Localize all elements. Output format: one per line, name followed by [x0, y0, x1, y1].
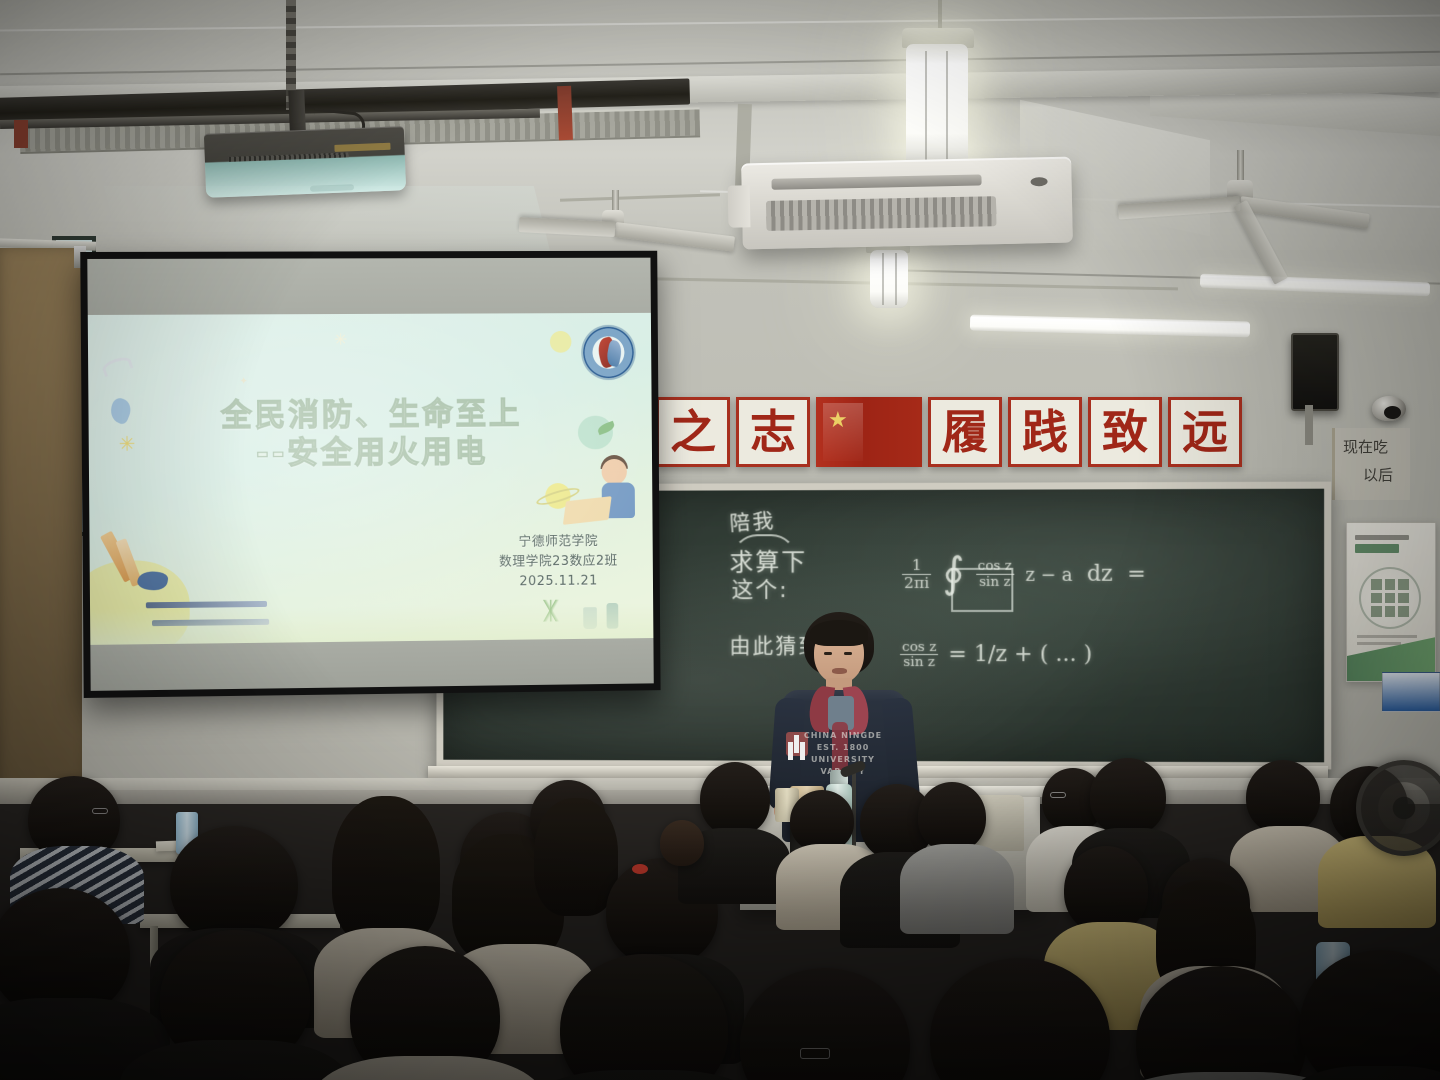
- ceiling-projector: [204, 126, 406, 198]
- hair-scrunchie: [632, 864, 648, 874]
- slide-title-line-2: --安全用火用电: [89, 433, 652, 475]
- tube-seam: [895, 253, 897, 304]
- poster-text-line: [1357, 642, 1401, 645]
- slide-title-line-1: 全民消防、生命至上: [88, 396, 651, 437]
- ac-grill: [766, 196, 997, 231]
- chalk-frac-den: 2πi: [902, 574, 931, 590]
- poster-icon: [1398, 606, 1409, 617]
- wall-speaker: [1291, 333, 1339, 411]
- presenter-eye: [844, 652, 852, 655]
- banner-tile-zhi1: 之: [656, 397, 730, 467]
- screen-surface: ✳ ✳ ✦: [87, 258, 653, 691]
- chalk-fraction: 1 2πi: [902, 557, 931, 591]
- fan-blade: [519, 217, 616, 237]
- window-curtain: [0, 248, 82, 804]
- student-head: [1246, 760, 1320, 834]
- confetti-ribbon-decoration: [101, 354, 134, 377]
- student-head: [790, 790, 854, 852]
- screen-letterbox-top: [87, 258, 651, 317]
- banner-char: 远: [1182, 409, 1228, 455]
- poster-subheading-bar: [1355, 544, 1399, 553]
- poster-heading-bar: [1355, 535, 1409, 540]
- poster-icon: [1385, 606, 1396, 617]
- tube-seam: [946, 51, 948, 160]
- chalk-formula-2-right: = 1/z + ( ... ): [948, 642, 1092, 667]
- presentation-slide: ✳ ✳ ✦: [88, 313, 654, 649]
- student-head: [740, 968, 910, 1080]
- poster-icon-grid: [1371, 579, 1409, 617]
- camera-lens: [1384, 406, 1401, 419]
- tube-seam: [925, 51, 927, 160]
- presenter-fringe: [810, 620, 868, 646]
- poster-text-line: [1357, 635, 1417, 638]
- screen-letterbox-bottom: [90, 638, 653, 691]
- student-torso: [1280, 1066, 1440, 1080]
- chalk-line-2: 这个:: [732, 572, 789, 604]
- chalk-denominator: z − a: [1025, 565, 1072, 586]
- note-line-2: 以后: [1363, 464, 1393, 485]
- banner-tile-lv: 履: [928, 397, 1002, 467]
- chinese-flag-plaque: [816, 397, 922, 467]
- university-emblem-icon: [583, 327, 634, 379]
- wall-motto-banner: 之 志 履 践 致 远: [640, 395, 1242, 469]
- presenter-mouth: [832, 668, 847, 674]
- banner-tile-yuan: 远: [1168, 397, 1242, 467]
- pull-down-projection-screen: ✳ ✳ ✦: [80, 251, 660, 698]
- chalk-equals: =: [1127, 562, 1146, 587]
- classroom-photo: 之 志 履 践 致 远 现在吃 以后: [0, 0, 1440, 1080]
- student-head: [1090, 758, 1166, 836]
- student-long-hair: [534, 798, 618, 916]
- banner-tile-zhi3: 致: [1088, 397, 1162, 467]
- yellow-circle-decoration: [550, 331, 572, 353]
- student-glasses: [92, 808, 108, 814]
- student-torso: [520, 1070, 770, 1080]
- chalk-frac-num: 1: [902, 557, 931, 574]
- projector-vent: [229, 152, 349, 162]
- ceiling-bracket: [14, 120, 28, 148]
- chalk-differential: dz: [1087, 562, 1113, 587]
- poster-icon: [1385, 593, 1396, 604]
- sparkle-decoration: ✦: [239, 376, 247, 387]
- poster-icon: [1371, 593, 1382, 604]
- ceiling-bracket: [557, 86, 573, 140]
- poster-icon: [1385, 579, 1396, 590]
- slide-date: 2025.11.21: [499, 572, 618, 593]
- tube-seam: [882, 253, 884, 304]
- banner-char: 践: [1022, 409, 1068, 455]
- curtain-shadow: [0, 248, 82, 804]
- banner-tile-jian: 践: [1008, 397, 1082, 467]
- secondary-poster: [1382, 672, 1440, 712]
- student-torso: [900, 844, 1014, 934]
- poster-icon: [1371, 606, 1382, 617]
- student-torso: [312, 1056, 544, 1080]
- ac-fin: [728, 185, 751, 227]
- fan-rod: [1237, 150, 1244, 184]
- green-safety-poster: [1346, 522, 1436, 682]
- projector-label: [334, 143, 390, 152]
- ceiling-fan: [1150, 150, 1330, 230]
- student-head: [660, 820, 704, 866]
- note-line-1: 现在吃: [1343, 436, 1388, 457]
- cassette-air-conditioner: [741, 157, 1073, 250]
- slide-org: 宁德师范学院: [499, 532, 618, 553]
- poster-icon: [1371, 579, 1382, 590]
- projector-body: [204, 126, 406, 198]
- slide-class: 数理学院23数应2班: [499, 552, 618, 573]
- chalk-formula-1: 1 2πi ∮ cos z sin z z − a dz =: [899, 548, 1146, 597]
- speaker-bracket: [1305, 405, 1313, 445]
- fluorescent-tube-light: [870, 250, 908, 308]
- presenter-eye: [824, 652, 832, 655]
- chalk-note-top: 陪我: [729, 505, 777, 538]
- star-decoration: ✳: [334, 330, 347, 350]
- projector-lens: [310, 184, 354, 192]
- fan-rod: [612, 190, 619, 212]
- poster-icon: [1398, 593, 1409, 604]
- banner-char: 志: [750, 409, 796, 455]
- student-head: [918, 782, 986, 852]
- ac-sensor: [1030, 177, 1047, 186]
- chalk-rectangle: [951, 568, 1013, 612]
- student-glasses: [800, 1048, 830, 1059]
- student-glasses: [1050, 792, 1066, 798]
- banner-tile-zhi2: 志: [736, 397, 810, 467]
- poster-icon: [1398, 579, 1409, 590]
- banner-char: 之: [670, 409, 716, 455]
- student-head: [170, 826, 298, 942]
- banner-char: 履: [942, 409, 988, 455]
- student-long-hair: [332, 796, 440, 946]
- student-head: [700, 762, 770, 836]
- wall-handwriting-note: 现在吃 以后: [1332, 428, 1410, 500]
- fluorescent-tube-light: [906, 44, 968, 168]
- slide-subtitle-block: 宁德师范学院 数理学院23数应2班 2025.11.21: [499, 532, 618, 593]
- student-audience: [0, 740, 1440, 1080]
- paper-illustration: [563, 496, 612, 525]
- student-head: [1064, 846, 1148, 934]
- ceiling-fan: [530, 190, 700, 260]
- slide-title: 全民消防、生命至上 --安全用火用电: [88, 396, 652, 475]
- ac-air-slot: [771, 174, 981, 189]
- banner-char: 致: [1102, 409, 1148, 455]
